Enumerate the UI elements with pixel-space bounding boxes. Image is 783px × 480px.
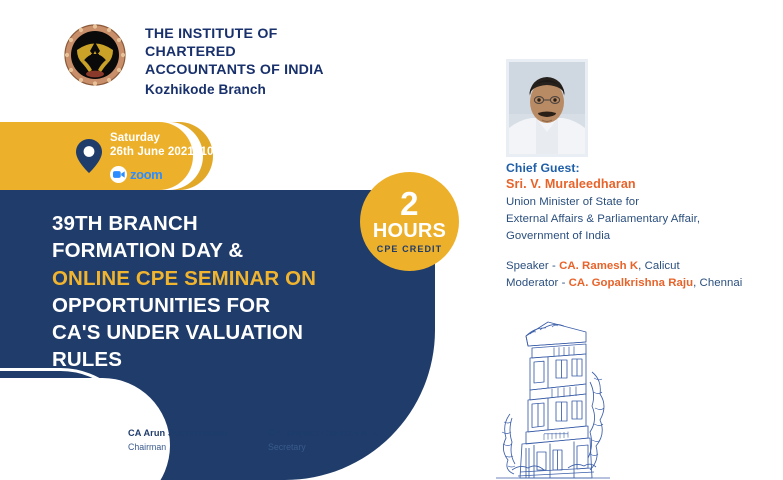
date-text-block: Saturday 26th June 2021, 10am <box>110 131 230 160</box>
zoom-label: zoom <box>130 167 162 182</box>
chief-guest-desc-line-3: Government of India <box>506 228 778 245</box>
chief-guest-block: Chief Guest: Sri. V. Muraleedharan Union… <box>506 160 778 245</box>
chief-guest-portrait <box>506 59 588 157</box>
organisation-name: THE INSTITUTE OF CHARTERED ACCOUNTANTS O… <box>145 24 324 97</box>
title-line-1: 39TH BRANCH <box>52 210 372 237</box>
cpe-credit-badge: 2 HOURS CPE CREDIT <box>360 172 459 271</box>
branch-name: Kozhikode Branch <box>145 82 324 97</box>
chief-guest-desc-line-2: External Affairs & Parliamentary Affair, <box>506 211 778 228</box>
poster-header: THE INSTITUTE OF CHARTERED ACCOUNTANTS O… <box>64 24 324 97</box>
org-line-3: ACCOUNTANTS OF INDIA <box>145 62 324 80</box>
moderator-city: , Chennai <box>693 277 742 289</box>
title-line-4: OPPORTUNITIES FOR <box>52 292 372 319</box>
speaker-name: CA. Ramesh K <box>559 260 638 272</box>
chief-guest-label: Chief Guest: <box>506 160 778 176</box>
speaker-moderator-block: Speaker - CA. Ramesh K, Calicut Moderato… <box>506 258 783 292</box>
icai-bhawan-building-sketch <box>482 302 614 480</box>
event-day: Saturday <box>110 131 230 145</box>
title-line-2: FORMATION DAY & <box>52 237 372 264</box>
zoom-platform: zoom <box>110 166 162 183</box>
speaker-prefix: Speaker - <box>506 260 559 272</box>
chief-guest-name: Sri. V. Muraleedharan <box>506 176 778 194</box>
title-line-3-highlight: ONLINE CPE SEMINAR ON <box>52 265 372 292</box>
cpe-hours-unit: HOURS <box>373 221 446 241</box>
signatory-role: Chairman <box>128 442 227 453</box>
signatory-role: Secretary <box>268 442 381 453</box>
cpe-hours-number: 2 <box>400 189 419 219</box>
title-line-5: CA'S UNDER VALUATION <box>52 319 372 346</box>
signatory-secretary: CA. Mujeeb Rahman M.K. Secretary <box>268 428 381 453</box>
moderator-line: Moderator - CA. Gopalkrishna Raju, Chenn… <box>506 275 783 292</box>
signatory-name: CA. Mujeeb Rahman M.K. <box>268 428 381 440</box>
moderator-name: CA. Gopalkrishna Raju <box>569 277 693 289</box>
signatory-name: CA Arun Subramanian <box>128 428 227 440</box>
speaker-line: Speaker - CA. Ramesh K, Calicut <box>506 258 783 275</box>
location-pin-icon <box>76 139 102 173</box>
speaker-city: , Calicut <box>638 260 680 272</box>
event-title: 39TH BRANCH FORMATION DAY & ONLINE CPE S… <box>52 210 372 374</box>
org-line-2: CHARTERED <box>145 44 324 62</box>
org-line-1: THE INSTITUTE OF <box>145 26 324 44</box>
event-poster: THE INSTITUTE OF CHARTERED ACCOUNTANTS O… <box>0 0 783 480</box>
icai-logo-icon <box>64 24 126 86</box>
cpe-credit-label: CPE CREDIT <box>377 244 443 254</box>
title-line-6: RULES <box>52 346 372 373</box>
chief-guest-desc-line-1: Union Minister of State for <box>506 194 778 211</box>
event-date-time: 26th June 2021, 10am <box>110 145 230 159</box>
signatory-chairman: CA Arun Subramanian Chairman <box>128 428 227 453</box>
moderator-prefix: Moderator - <box>506 277 569 289</box>
video-camera-icon <box>110 166 127 183</box>
